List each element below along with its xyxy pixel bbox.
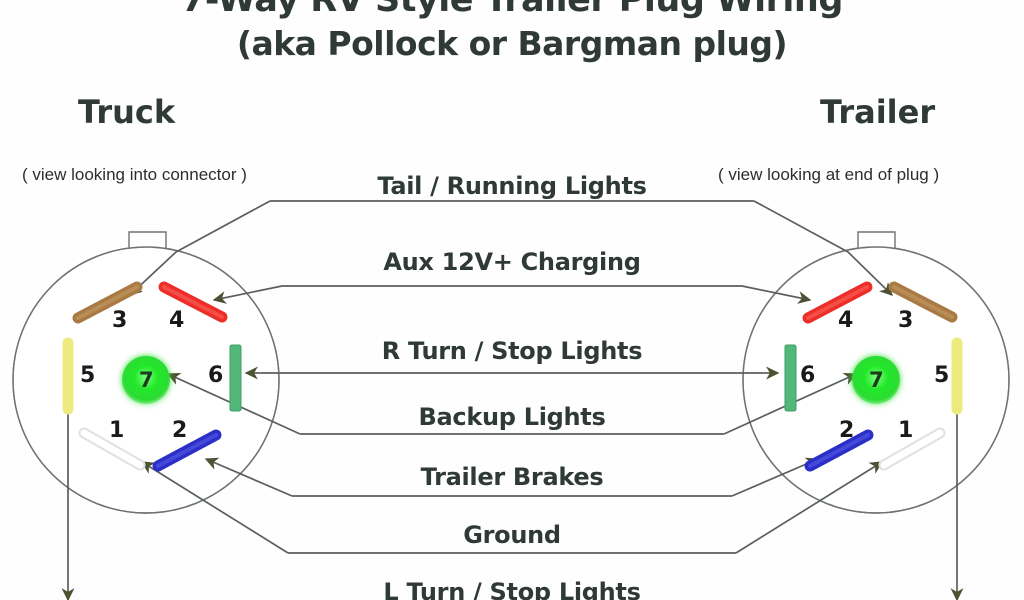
trailer-pin-label-4: 4 (838, 308, 853, 333)
truck-pin-label-6: 6 (208, 363, 223, 388)
truck-pin-label-3: 3 (112, 308, 127, 333)
trailer-pin-label-1: 1 (898, 418, 913, 443)
truck-pin-label-1: 1 (109, 418, 124, 443)
trailer-pin-label-3: 3 (898, 308, 913, 333)
trailer-pin-label-2: 2 (839, 418, 854, 443)
truck-pin-label-2: 2 (172, 418, 187, 443)
truck-pin-label-4: 4 (169, 308, 184, 333)
wire-routing-layer (0, 0, 1024, 600)
trailer-pin-label-7: 7 (869, 368, 884, 392)
trailer-pin-label-5: 5 (934, 363, 949, 388)
truck-pin-6-green-stub (230, 345, 241, 411)
wiring-diagram-canvas: 7-Way RV Style Trailer Plug Wiring (aka … (0, 0, 1024, 600)
truck-pin-label-7: 7 (139, 368, 154, 392)
trailer-pin-label-6: 6 (800, 363, 815, 388)
trailer-pin-6-green-stub (785, 345, 796, 411)
truck-pin-label-5: 5 (80, 363, 95, 388)
